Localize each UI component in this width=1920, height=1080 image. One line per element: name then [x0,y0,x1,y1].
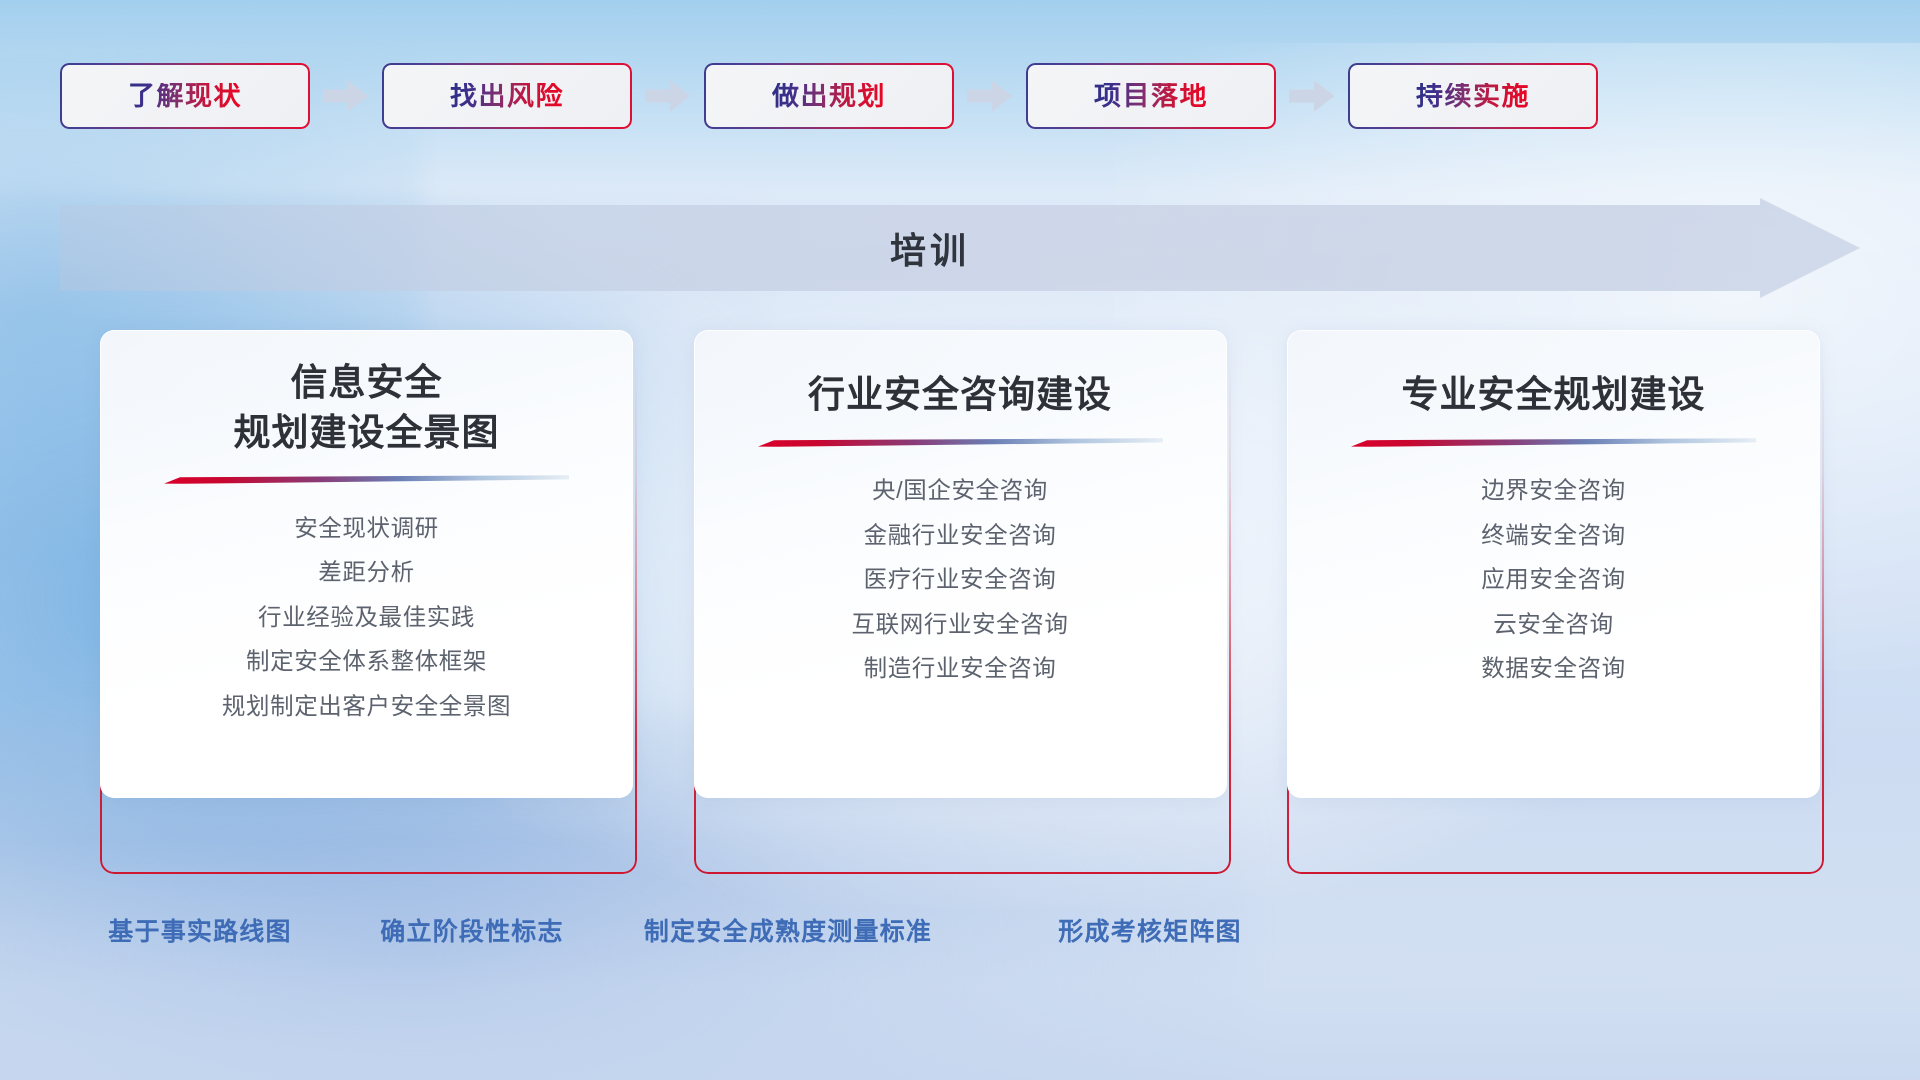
bottom-label-1: 基于事实路线图 [108,915,291,950]
card-item-list: 央/国企安全咨询 金融行业安全咨询 医疗行业安全咨询 互联网行业安全咨询 制造行… [694,469,1227,692]
list-item: 互联网行业安全咨询 [694,602,1227,647]
cards-row: 信息安全 规划建设全景图 [100,330,1820,870]
list-item: 制造行业安全咨询 [694,647,1227,692]
card-divider [1351,438,1756,447]
list-item: 规划制定出客户安全全景图 [100,684,633,729]
arrow-right-icon [310,63,382,129]
bottom-label-4: 形成考核矩阵图 [1058,915,1241,950]
arrow-right-icon [1276,63,1348,129]
step-chip-label: 持续实施 [1416,83,1530,110]
bottom-label-2: 确立阶段性标志 [380,915,563,950]
card-1-wrapper: 信息安全 规划建设全景图 [100,330,633,870]
list-item: 医疗行业安全咨询 [694,558,1227,603]
card-item-list: 边界安全咨询 终端安全咨询 应用安全咨询 云安全咨询 数据安全咨询 [1287,469,1820,692]
list-item: 央/国企安全咨询 [694,469,1227,514]
list-item: 制定安全体系整体框架 [100,640,633,685]
step-chip-2[interactable]: 找出风险 [382,63,632,129]
step-chip-5[interactable]: 持续实施 [1348,63,1598,129]
list-item: 数据安全咨询 [1287,647,1820,692]
list-item: 终端安全咨询 [1287,513,1820,558]
list-item: 行业经验及最佳实践 [100,595,633,640]
arrow-right-icon [954,63,1026,129]
banner-title: 培训 [60,198,1860,298]
card-divider [164,475,569,484]
arrow-right-icon [632,63,704,129]
card-title-line: 信息安全 [100,358,633,408]
list-item: 差距分析 [100,551,633,596]
bottom-label-3: 制定安全成熟度测量标准 [644,915,932,950]
process-steps-row: 了解现状 找出风险 做出规划 项目落地 持续实施 [60,62,1860,130]
card-2-wrapper: 行业安全咨询建设 [694,330,1227,870]
step-chip-label: 找出风险 [450,83,564,110]
card-3-wrapper: 专业安全规划建设 [1287,330,1820,870]
list-item: 金融行业安全咨询 [694,513,1227,558]
card-title: 专业安全规划建设 [1287,370,1820,420]
step-chip-label: 了解现状 [128,83,242,110]
card-title-line: 行业安全咨询建设 [694,370,1227,420]
card-title-line: 规划建设全景图 [100,408,633,458]
step-chip-4[interactable]: 项目落地 [1026,63,1276,129]
card-information-security-panorama[interactable]: 信息安全 规划建设全景图 [100,330,633,798]
card-divider [758,438,1163,447]
card-industry-security-consulting[interactable]: 行业安全咨询建设 [694,330,1227,798]
step-chip-1[interactable]: 了解现状 [60,63,310,129]
card-title-line: 专业安全规划建设 [1287,370,1820,420]
bottom-label-row: 基于事实路线图 确立阶段性标志 制定安全成熟度测量标准 形成考核矩阵图 [0,915,1920,975]
list-item: 边界安全咨询 [1287,469,1820,514]
step-chip-label: 项目落地 [1094,83,1208,110]
list-item: 安全现状调研 [100,506,633,551]
list-item: 云安全咨询 [1287,602,1820,647]
card-professional-security-planning[interactable]: 专业安全规划建设 [1287,330,1820,798]
training-banner: 培训 [60,198,1860,298]
step-chip-label: 做出规划 [772,83,886,110]
card-item-list: 安全现状调研 差距分析 行业经验及最佳实践 制定安全体系整体框架 规划制定出客户… [100,506,633,729]
card-title: 信息安全 规划建设全景图 [100,358,633,457]
list-item: 应用安全咨询 [1287,558,1820,603]
card-title: 行业安全咨询建设 [694,370,1227,420]
step-chip-3[interactable]: 做出规划 [704,63,954,129]
